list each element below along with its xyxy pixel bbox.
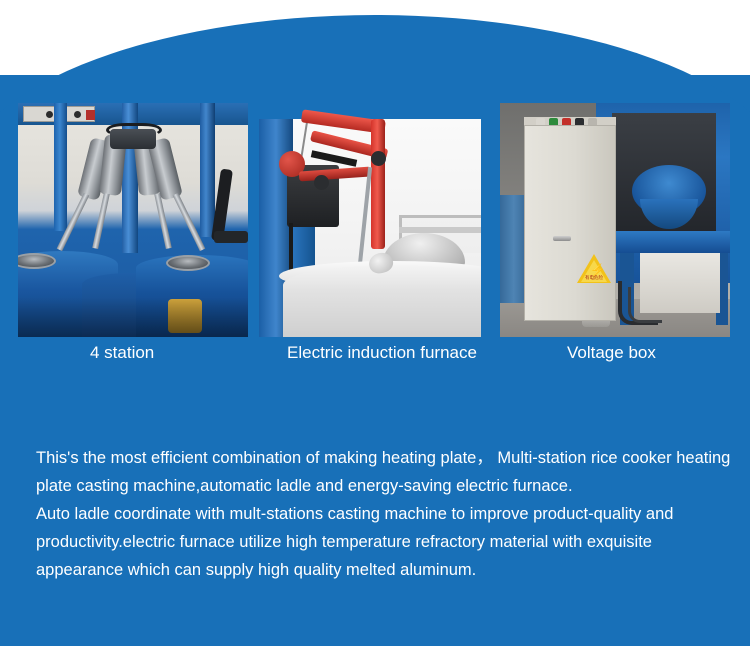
piston-rod: [154, 193, 172, 249]
piston-rod: [92, 193, 110, 249]
photo-gallery: ⚡ 有电危险: [18, 103, 732, 337]
ladle-arm-vertical: [371, 119, 385, 249]
casting-die: [166, 255, 210, 271]
arm-linkage-rod: [358, 167, 372, 265]
red-indicator: [86, 110, 95, 120]
high-voltage-warning-icon: ⚡ 有电危险: [577, 254, 611, 284]
photo-electric-induction-furnace[interactable]: [259, 103, 489, 337]
arm-joint: [371, 151, 386, 166]
machine-base-beam: [596, 231, 730, 253]
top-blue-strip: [259, 103, 489, 119]
cabinet-handle[interactable]: [553, 236, 571, 241]
caption-4-station: 4 station: [90, 343, 154, 363]
furnace-rack-bar: [399, 227, 487, 233]
photo-voltage-box[interactable]: ⚡ 有电危险: [500, 103, 730, 337]
product-info-banner: ⚡ 有电危险 4 station Electric induction furn…: [0, 0, 750, 646]
photo-4-station[interactable]: [18, 103, 248, 337]
arm-joint: [314, 175, 329, 190]
warning-text-cn: 有电危险: [582, 275, 606, 280]
photo-captions: 4 station Electric induction furnace Vol…: [0, 343, 750, 373]
right-blue-strip: [481, 103, 489, 337]
furnace-body: [283, 265, 489, 337]
description-paragraph-2: Auto ladle coordinate with mult-stations…: [36, 500, 736, 584]
cylinder-hub: [110, 129, 156, 149]
voltage-cabinet-door[interactable]: ⚡ 有电危险: [524, 125, 616, 321]
description-block: This's the most efficient combination of…: [36, 444, 736, 584]
photo-shadow: [18, 297, 248, 337]
blue-column-left: [54, 103, 67, 231]
description-paragraph-1: This's the most efficient combination of…: [36, 444, 736, 500]
caption-electric-induction-furnace: Electric induction furnace: [287, 343, 477, 363]
hydraulic-hoses-secondary: [628, 287, 662, 323]
blue-column-right: [200, 103, 215, 237]
caption-voltage-box: Voltage box: [567, 343, 656, 363]
side-arm-foot: [214, 231, 248, 243]
